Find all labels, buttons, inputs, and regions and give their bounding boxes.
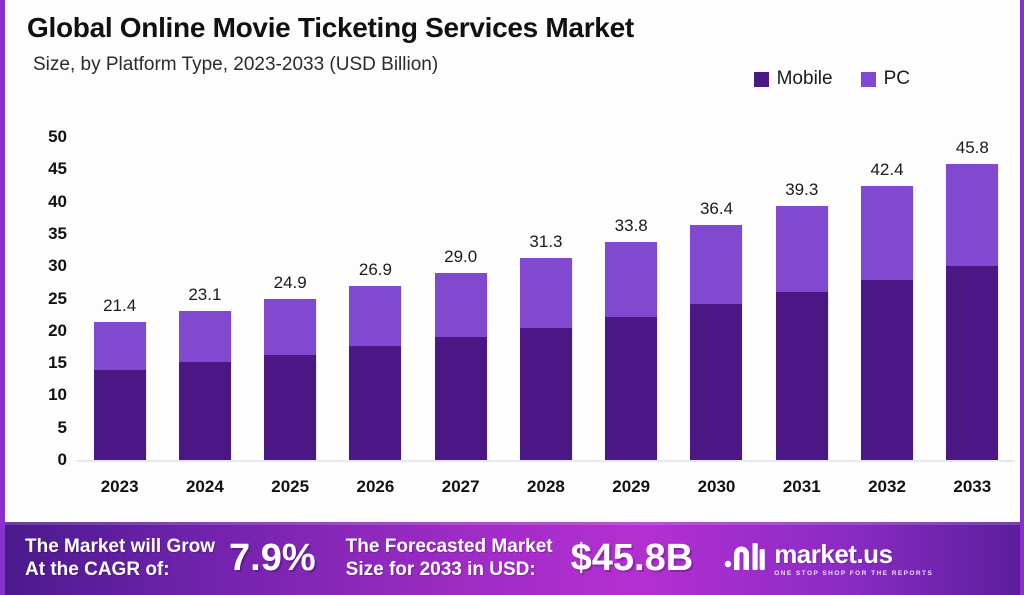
bar-value-label: 45.8 xyxy=(956,138,989,158)
bar-segment-pc[interactable] xyxy=(435,273,487,338)
page-title: Global Online Movie Ticketing Services M… xyxy=(27,12,634,44)
y-axis: 05101520253035404550 xyxy=(27,95,67,522)
bar-segment-pc[interactable] xyxy=(520,258,572,328)
logo-text: market.us ONE STOP SHOP FOR THE REPORTS xyxy=(774,541,933,577)
legend-label-mobile: Mobile xyxy=(777,68,833,90)
stacked-bar[interactable] xyxy=(264,299,316,460)
x-axis-tick: 2031 xyxy=(776,477,828,497)
bar-segment-pc[interactable] xyxy=(776,206,828,292)
x-axis-tick: 2023 xyxy=(94,477,146,497)
bar-group[interactable]: 31.3 xyxy=(520,95,572,460)
bar-value-label: 23.1 xyxy=(188,285,221,305)
bar-segment-mobile[interactable] xyxy=(690,304,742,460)
bar-value-label: 39.3 xyxy=(785,180,818,200)
chart-legend: Mobile PC xyxy=(754,68,910,90)
stacked-bar[interactable] xyxy=(179,311,231,460)
chart-header: Global Online Movie Ticketing Services M… xyxy=(5,0,1020,95)
bar-segment-pc[interactable] xyxy=(179,311,231,362)
x-axis-tick: 2027 xyxy=(435,477,487,497)
bar-segment-pc[interactable] xyxy=(946,164,998,266)
x-axis-tick: 2029 xyxy=(605,477,657,497)
legend-item-mobile: Mobile xyxy=(754,68,833,90)
bar-segment-pc[interactable] xyxy=(94,322,146,370)
bar-value-label: 26.9 xyxy=(359,260,392,280)
forecast-caption-line1: The Forecasted Market xyxy=(346,536,553,558)
bar-value-label: 24.9 xyxy=(274,273,307,293)
bar-segment-mobile[interactable] xyxy=(776,292,828,460)
y-axis-tick: 5 xyxy=(27,418,67,438)
y-axis-tick: 50 xyxy=(27,127,67,147)
bar-value-label: 36.4 xyxy=(700,199,733,219)
market-us-logo[interactable]: market.us ONE STOP SHOP FOR THE REPORTS xyxy=(723,540,933,577)
cagr-value: 7.9% xyxy=(229,537,316,580)
plot-area: 05101520253035404550 21.423.124.926.929.… xyxy=(5,95,1024,522)
y-axis-tick: 30 xyxy=(27,256,67,276)
stacked-bar[interactable] xyxy=(946,164,998,460)
stacked-bar[interactable] xyxy=(776,206,828,460)
y-axis-tick: 35 xyxy=(27,224,67,244)
chart-subtitle: Size, by Platform Type, 2023-2033 (USD B… xyxy=(33,54,438,76)
chart-page: Global Online Movie Ticketing Services M… xyxy=(0,0,1024,595)
stacked-bar[interactable] xyxy=(690,225,742,460)
summary-banner: The Market will Grow At the CAGR of: 7.9… xyxy=(5,522,1024,595)
bar-group[interactable]: 21.4 xyxy=(94,95,146,460)
bar-group[interactable]: 39.3 xyxy=(776,95,828,460)
forecast-value: $45.8B xyxy=(571,537,694,580)
bar-segment-mobile[interactable] xyxy=(264,355,316,460)
y-axis-tick: 10 xyxy=(27,385,67,405)
bar-segment-pc[interactable] xyxy=(605,242,657,317)
bar-segment-mobile[interactable] xyxy=(179,362,231,460)
bar-segment-mobile[interactable] xyxy=(94,370,146,460)
x-axis-tick: 2026 xyxy=(349,477,401,497)
x-axis-tick: 2030 xyxy=(690,477,742,497)
y-axis-tick: 0 xyxy=(27,450,67,470)
stacked-bar[interactable] xyxy=(349,286,401,460)
bar-value-label: 29.0 xyxy=(444,247,477,267)
bar-value-label: 31.3 xyxy=(529,232,562,252)
x-axis-baseline xyxy=(77,460,1015,462)
x-axis-tick: 2033 xyxy=(946,477,998,497)
bar-segment-mobile[interactable] xyxy=(861,280,913,460)
logo-tagline: ONE STOP SHOP FOR THE REPORTS xyxy=(774,570,933,577)
stacked-bar[interactable] xyxy=(435,273,487,460)
bar-segment-pc[interactable] xyxy=(861,186,913,280)
bar-group[interactable]: 33.8 xyxy=(605,95,657,460)
banner-divider xyxy=(5,522,1024,525)
square-swatch-icon xyxy=(754,72,769,87)
cagr-block: The Market will Grow At the CAGR of: 7.9… xyxy=(25,536,316,581)
bar-segment-mobile[interactable] xyxy=(435,337,487,460)
bar-segment-mobile[interactable] xyxy=(605,317,657,460)
bar-group[interactable]: 45.8 xyxy=(946,95,998,460)
cagr-caption-line1: The Market will Grow xyxy=(25,536,215,558)
forecast-caption-line2: Size for 2033 in USD: xyxy=(346,559,553,581)
bar-series-container: 21.423.124.926.929.031.333.836.439.342.4… xyxy=(77,95,1015,460)
stacked-bar[interactable] xyxy=(520,258,572,460)
x-axis-tick: 2025 xyxy=(264,477,316,497)
legend-item-pc: PC xyxy=(861,68,910,90)
cagr-caption-line2: At the CAGR of: xyxy=(25,559,215,581)
bar-segment-pc[interactable] xyxy=(690,225,742,304)
stacked-bar[interactable] xyxy=(861,186,913,460)
square-swatch-icon xyxy=(861,72,876,87)
x-axis-tick: 2028 xyxy=(520,477,572,497)
bar-chart-logo-icon xyxy=(723,540,765,577)
bar-group[interactable]: 36.4 xyxy=(690,95,742,460)
y-axis-tick: 40 xyxy=(27,192,67,212)
bar-segment-pc[interactable] xyxy=(349,286,401,346)
y-axis-tick: 45 xyxy=(27,159,67,179)
bar-segment-mobile[interactable] xyxy=(520,328,572,460)
forecast-block: The Forecasted Market Size for 2033 in U… xyxy=(346,536,694,581)
logo-wordmark: market.us xyxy=(774,541,933,567)
bar-group[interactable]: 23.1 xyxy=(179,95,231,460)
x-axis-tick: 2024 xyxy=(179,477,231,497)
cagr-caption: The Market will Grow At the CAGR of: xyxy=(25,536,215,581)
y-axis-tick: 15 xyxy=(27,353,67,373)
forecast-caption: The Forecasted Market Size for 2033 in U… xyxy=(346,536,553,581)
bar-value-label: 33.8 xyxy=(615,216,648,236)
x-axis: 2023202420252026202720282029203020312032… xyxy=(77,467,1015,507)
bar-group[interactable]: 29.0 xyxy=(435,95,487,460)
bar-group[interactable]: 24.9 xyxy=(264,95,316,460)
bar-segment-mobile[interactable] xyxy=(946,266,998,460)
bar-value-label: 42.4 xyxy=(870,160,903,180)
bar-value-label: 21.4 xyxy=(103,296,136,316)
bar-segment-mobile[interactable] xyxy=(349,346,401,460)
y-axis-tick: 25 xyxy=(27,289,67,309)
legend-label-pc: PC xyxy=(884,68,910,90)
y-axis-tick: 20 xyxy=(27,321,67,341)
x-axis-tick: 2032 xyxy=(861,477,913,497)
bar-segment-pc[interactable] xyxy=(264,299,316,355)
stacked-bar[interactable] xyxy=(94,322,146,460)
stacked-bar[interactable] xyxy=(605,242,657,460)
bar-group[interactable]: 42.4 xyxy=(861,95,913,460)
bar-group[interactable]: 26.9 xyxy=(349,95,401,460)
